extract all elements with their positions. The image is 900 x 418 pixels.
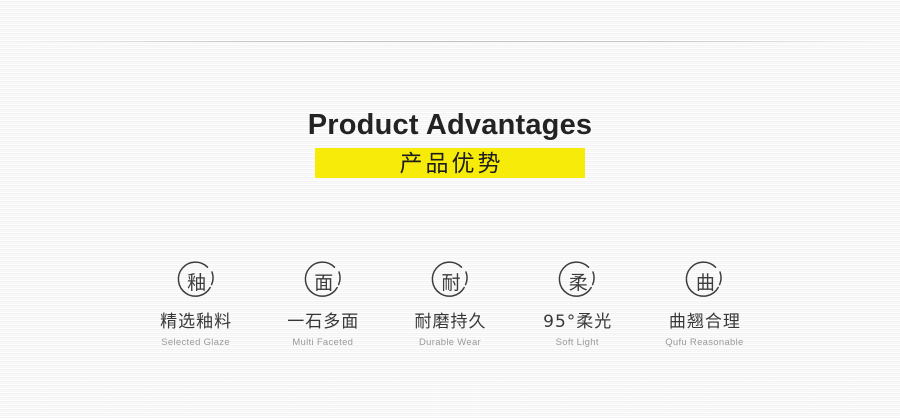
feature-item-selected-glaze: 釉 精选釉料 Selected Glaze xyxy=(132,258,259,349)
soft-circle-icon: 柔 xyxy=(553,258,601,304)
feature-sublabel: Soft Light xyxy=(556,337,599,349)
feature-list: 釉 精选釉料 Selected Glaze 面 一石多面 Multi Facet… xyxy=(132,258,768,349)
facet-icon-glyph: 面 xyxy=(299,258,347,304)
feature-sublabel: Durable Wear xyxy=(419,337,481,349)
soft-icon-glyph: 柔 xyxy=(553,258,601,304)
section-heading: Product Advantages 产品优势 xyxy=(0,108,900,178)
glaze-circle-icon: 釉 xyxy=(172,258,220,304)
feature-item-durable-wear: 耐 耐磨持久 Durable Wear xyxy=(386,258,513,349)
feature-item-soft-light: 柔 95°柔光 Soft Light xyxy=(514,258,641,349)
top-divider xyxy=(0,41,900,42)
glaze-icon-glyph: 釉 xyxy=(172,258,220,304)
subtitle-highlight-wrapper: 产品优势 xyxy=(0,148,900,178)
page-title: Product Advantages xyxy=(0,108,900,142)
feature-item-qufu-reasonable: 曲 曲翘合理 Qufu Reasonable xyxy=(641,258,768,349)
product-advantages-section: Product Advantages 产品优势 釉 精选釉料 Selected … xyxy=(0,0,900,418)
feature-sublabel: Multi Faceted xyxy=(292,337,353,349)
warp-icon-glyph: 曲 xyxy=(680,258,728,304)
feature-label: 一石多面 xyxy=(286,311,359,333)
feature-label: 耐磨持久 xyxy=(414,311,487,333)
durable-circle-icon: 耐 xyxy=(426,258,474,304)
durable-icon-glyph: 耐 xyxy=(426,258,474,304)
facet-circle-icon: 面 xyxy=(299,258,347,304)
subtitle-highlighted: 产品优势 xyxy=(315,148,585,178)
feature-label: 曲翘合理 xyxy=(668,311,741,333)
feature-sublabel: Qufu Reasonable xyxy=(665,337,743,349)
feature-label: 精选釉料 xyxy=(159,311,232,333)
feature-label: 95°柔光 xyxy=(542,311,612,333)
feature-item-multi-faceted: 面 一石多面 Multi Faceted xyxy=(259,258,386,349)
warp-circle-icon: 曲 xyxy=(680,258,728,304)
feature-sublabel: Selected Glaze xyxy=(161,337,230,349)
